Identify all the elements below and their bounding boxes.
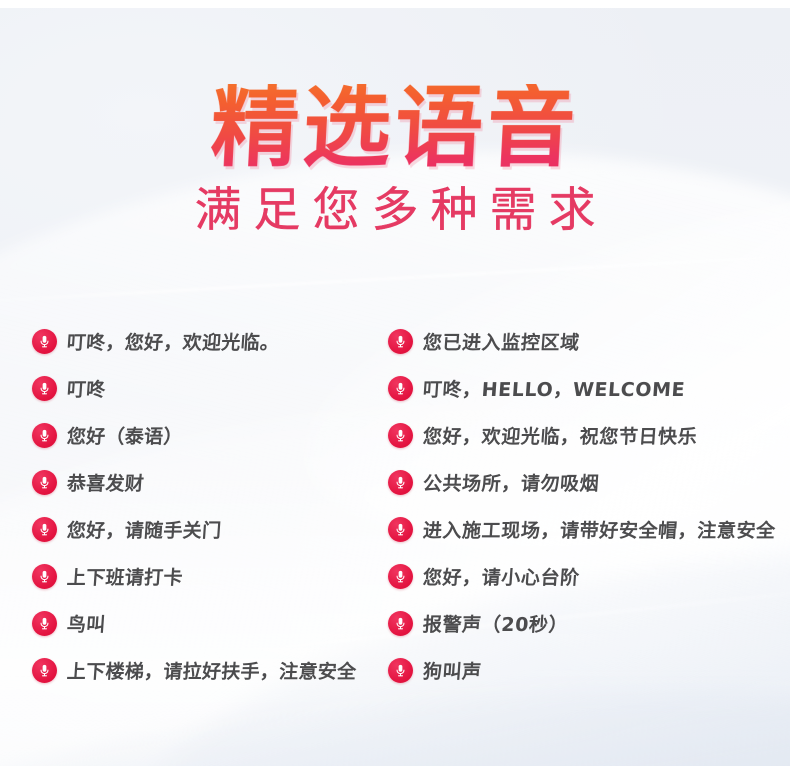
list-item: 上下楼梯，请拉好扶手，注意安全 (32, 647, 382, 694)
list-item: 鸟叫 (32, 600, 382, 647)
list-item-label: 叮咚 (66, 375, 106, 402)
list-item-label: 进入施工现场，请带好安全帽，注意安全 (422, 516, 777, 543)
list-item-label: 您好（泰语） (66, 422, 184, 449)
list-item-label: 公共场所，请勿吸烟 (422, 469, 600, 496)
list-item: 公共场所，请勿吸烟 (388, 459, 783, 506)
microphone-icon (32, 470, 57, 495)
bottom-white-margin (0, 766, 790, 777)
voice-list-left-column: 叮咚，您好，欢迎光临。 叮咚 (32, 318, 382, 694)
list-item: 恭喜发财 (32, 459, 382, 506)
list-item: 叮咚，HELLO，WELCOME (388, 365, 783, 412)
microphone-icon (388, 470, 413, 495)
voice-list-right-column: 您已进入监控区域 叮咚，HELLO，WELCOME (388, 318, 783, 694)
list-item: 您好（泰语） (32, 412, 382, 459)
poster-heading: 精选语音 满足您多种需求 (0, 84, 790, 235)
list-item-label: 上下楼梯，请拉好扶手，注意安全 (66, 657, 357, 684)
voice-feature-poster: 精选语音 满足您多种需求 叮咚，您好，欢迎光临。 (0, 0, 790, 777)
list-item-label: 报警声（20秒） (422, 610, 569, 637)
list-item: 进入施工现场，请带好安全帽，注意安全 (388, 506, 783, 553)
voice-list: 叮咚，您好，欢迎光临。 叮咚 (0, 318, 790, 718)
list-item: 上下班请打卡 (32, 553, 382, 600)
top-white-margin (0, 0, 790, 8)
list-item-label: 您好，请随手关门 (66, 516, 222, 543)
microphone-icon (388, 611, 413, 636)
list-item-label: 叮咚，HELLO，WELCOME (422, 375, 686, 402)
microphone-icon (32, 658, 57, 683)
list-item-label: 恭喜发财 (66, 469, 145, 496)
page-title: 精选语音 (0, 84, 790, 172)
microphone-icon (388, 423, 413, 448)
page-subtitle: 满足您多种需求 (0, 186, 790, 235)
microphone-icon (32, 517, 57, 542)
list-item: 叮咚，您好，欢迎光临。 (32, 318, 382, 365)
list-item: 叮咚 (32, 365, 382, 412)
list-item: 您好，请随手关门 (32, 506, 382, 553)
list-item-label: 鸟叫 (66, 610, 106, 637)
microphone-icon (388, 329, 413, 354)
microphone-icon (388, 376, 413, 401)
list-item: 您已进入监控区域 (388, 318, 783, 365)
list-item-label: 叮咚，您好，欢迎光临。 (66, 328, 280, 355)
microphone-icon (32, 376, 57, 401)
microphone-icon (32, 329, 57, 354)
list-item-label: 您已进入监控区域 (422, 328, 581, 355)
microphone-icon (32, 564, 57, 589)
background-highlight-line-1 (0, 249, 790, 305)
list-item: 狗叫声 (388, 647, 783, 694)
list-item: 报警声（20秒） (388, 600, 783, 647)
list-item-label: 上下班请打卡 (66, 563, 184, 590)
microphone-icon (32, 423, 57, 448)
microphone-icon (32, 611, 57, 636)
microphone-icon (388, 658, 413, 683)
list-item: 您好，欢迎光临，祝您节日快乐 (388, 412, 783, 459)
microphone-icon (388, 517, 413, 542)
list-item-label: 您好，请小心台阶 (422, 563, 581, 590)
list-item: 您好，请小心台阶 (388, 553, 783, 600)
list-item-label: 您好，欢迎光临，祝您节日快乐 (422, 422, 698, 449)
list-item-label: 狗叫声 (422, 657, 483, 684)
microphone-icon (388, 564, 413, 589)
